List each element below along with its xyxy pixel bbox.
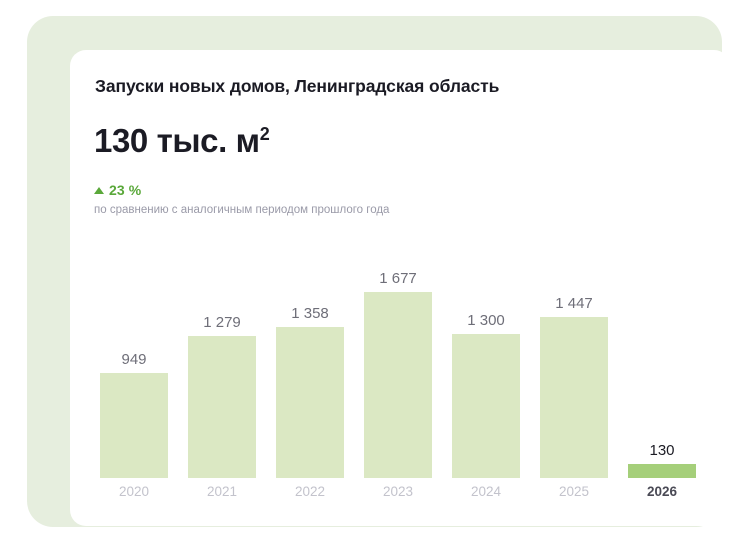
axis-label-2026: 2026 — [628, 484, 696, 499]
axis-label-2020: 2020 — [100, 484, 168, 499]
bar-rect[interactable] — [100, 373, 168, 478]
axis-label-2024: 2024 — [452, 484, 520, 499]
delta-note: по сравнению с аналогичным периодом прош… — [94, 204, 389, 216]
bar-value-label: 130 — [628, 442, 696, 459]
chart-x-axis: 2020202120222023202420252026 — [94, 478, 706, 502]
chart-plot-area: 9491 2791 3581 6771 3001 447130 — [94, 246, 706, 478]
triangle-up-icon — [94, 187, 104, 194]
bar-value-label: 1 677 — [364, 270, 432, 287]
page-title: Запуски новых домов, Ленинградская облас… — [95, 76, 499, 97]
bar-value-label: 1 358 — [276, 305, 344, 322]
kpi-number: 130 тыс. м — [94, 122, 260, 159]
bar-rect[interactable] — [364, 292, 432, 478]
delta-indicator: 23 % — [94, 182, 141, 198]
bar-rect[interactable] — [540, 317, 608, 478]
bar-group-2023[interactable]: 1 677 — [364, 246, 432, 478]
bar-group-2024[interactable]: 1 300 — [452, 246, 520, 478]
delta-value: 23 % — [109, 182, 141, 198]
bar-rect[interactable] — [452, 334, 520, 478]
kpi-superscript: 2 — [260, 124, 270, 144]
axis-label-2021: 2021 — [188, 484, 256, 499]
bar-group-2020[interactable]: 949 — [100, 246, 168, 478]
bar-rect[interactable] — [276, 327, 344, 478]
axis-label-2025: 2025 — [540, 484, 608, 499]
bar-value-label: 949 — [100, 351, 168, 368]
bar-rect[interactable] — [188, 336, 256, 478]
bar-chart: 9491 2791 3581 6771 3001 447130 20202021… — [94, 246, 706, 502]
bar-value-label: 1 300 — [452, 312, 520, 329]
bar-value-label: 1 279 — [188, 314, 256, 331]
axis-label-2023: 2023 — [364, 484, 432, 499]
bar-value-label: 1 447 — [540, 295, 608, 312]
bar-group-2021[interactable]: 1 279 — [188, 246, 256, 478]
bar-group-2026[interactable]: 130 — [628, 246, 696, 478]
bar-group-2022[interactable]: 1 358 — [276, 246, 344, 478]
bar-rect[interactable] — [628, 464, 696, 478]
kpi-value: 130 тыс. м2 — [94, 122, 269, 160]
outer-frame: Запуски новых домов, Ленинградская облас… — [27, 16, 722, 527]
stat-card: Запуски новых домов, Ленинградская облас… — [70, 50, 730, 526]
bar-group-2025[interactable]: 1 447 — [540, 246, 608, 478]
axis-label-2022: 2022 — [276, 484, 344, 499]
